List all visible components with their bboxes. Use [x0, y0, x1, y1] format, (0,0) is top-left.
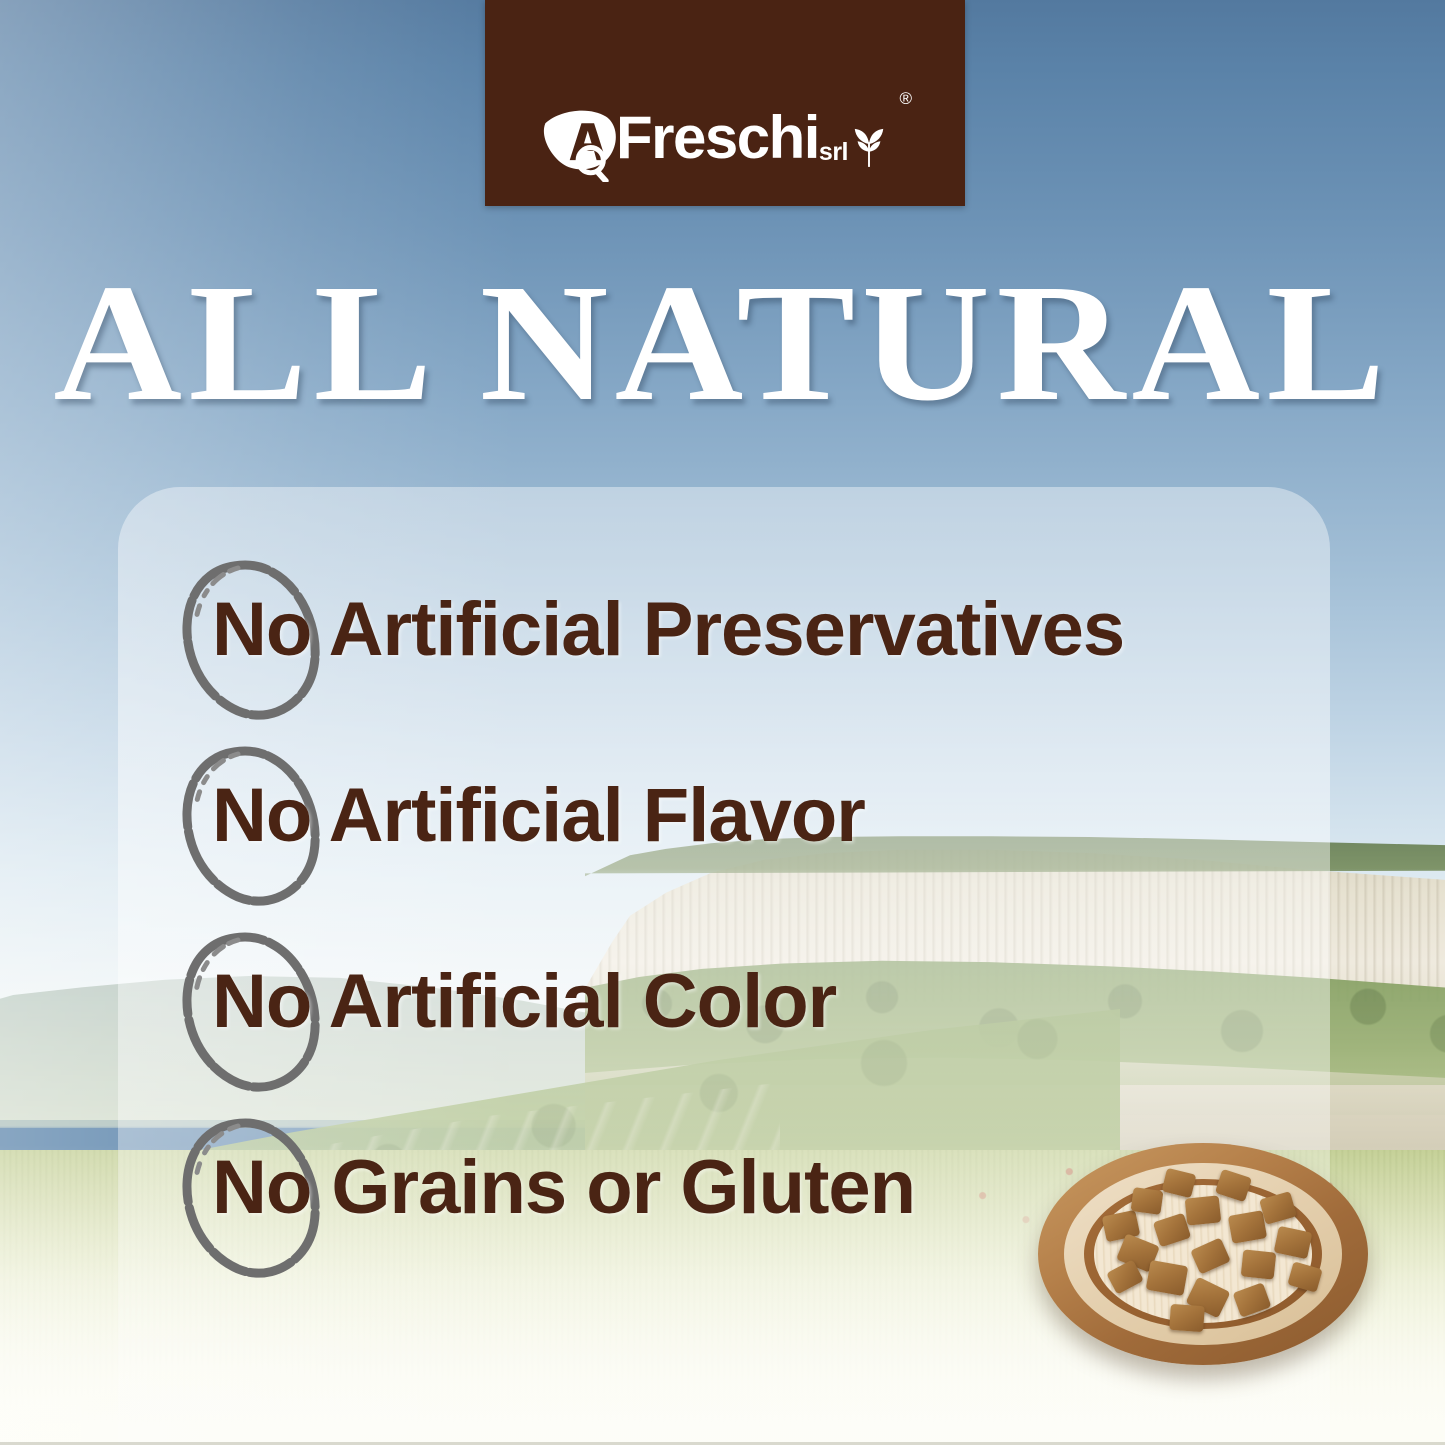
treat-pile — [1090, 1155, 1340, 1345]
all-natural-product-poster: Freschi srl ® ALL NATURAL — [0, 0, 1445, 1445]
list-item-label: No Artificial Preservatives — [212, 592, 1124, 668]
registered-trademark-icon: ® — [899, 90, 912, 107]
list-item: No Artificial Flavor — [176, 742, 1376, 928]
list-item-label: No Grains or Gluten — [212, 1150, 915, 1226]
product-photo — [1008, 1115, 1398, 1415]
treat-piece — [1259, 1191, 1297, 1225]
treat-piece — [1241, 1249, 1277, 1279]
brand-suffix: srl — [819, 140, 848, 165]
list-item-label: No Artificial Flavor — [212, 778, 865, 854]
treat-piece — [1233, 1282, 1272, 1317]
treat-piece — [1169, 1304, 1205, 1332]
sprout-icon — [850, 123, 888, 169]
leaf-magnifier-icon — [542, 98, 626, 182]
treat-piece — [1190, 1237, 1231, 1274]
treat-piece — [1162, 1168, 1197, 1199]
treat-piece — [1185, 1195, 1222, 1225]
treat-piece — [1130, 1187, 1163, 1215]
logo-lockup: Freschi srl ® — [542, 96, 908, 180]
list-item: No Artificial Preservatives — [176, 556, 1376, 742]
treat-piece — [1153, 1213, 1191, 1248]
treat-piece — [1215, 1169, 1252, 1202]
treat-piece — [1274, 1226, 1313, 1259]
list-item: No Artificial Color — [176, 928, 1376, 1114]
treat-piece — [1228, 1210, 1267, 1244]
list-item-label: No Artificial Color — [212, 964, 836, 1040]
page-title: ALL NATURAL — [0, 259, 1445, 427]
brand-name: Freschi — [616, 108, 819, 168]
wooden-plate — [1038, 1143, 1368, 1365]
brand-logo-banner: Freschi srl ® — [485, 0, 965, 206]
treat-piece — [1287, 1261, 1322, 1292]
treat-piece — [1146, 1260, 1189, 1296]
